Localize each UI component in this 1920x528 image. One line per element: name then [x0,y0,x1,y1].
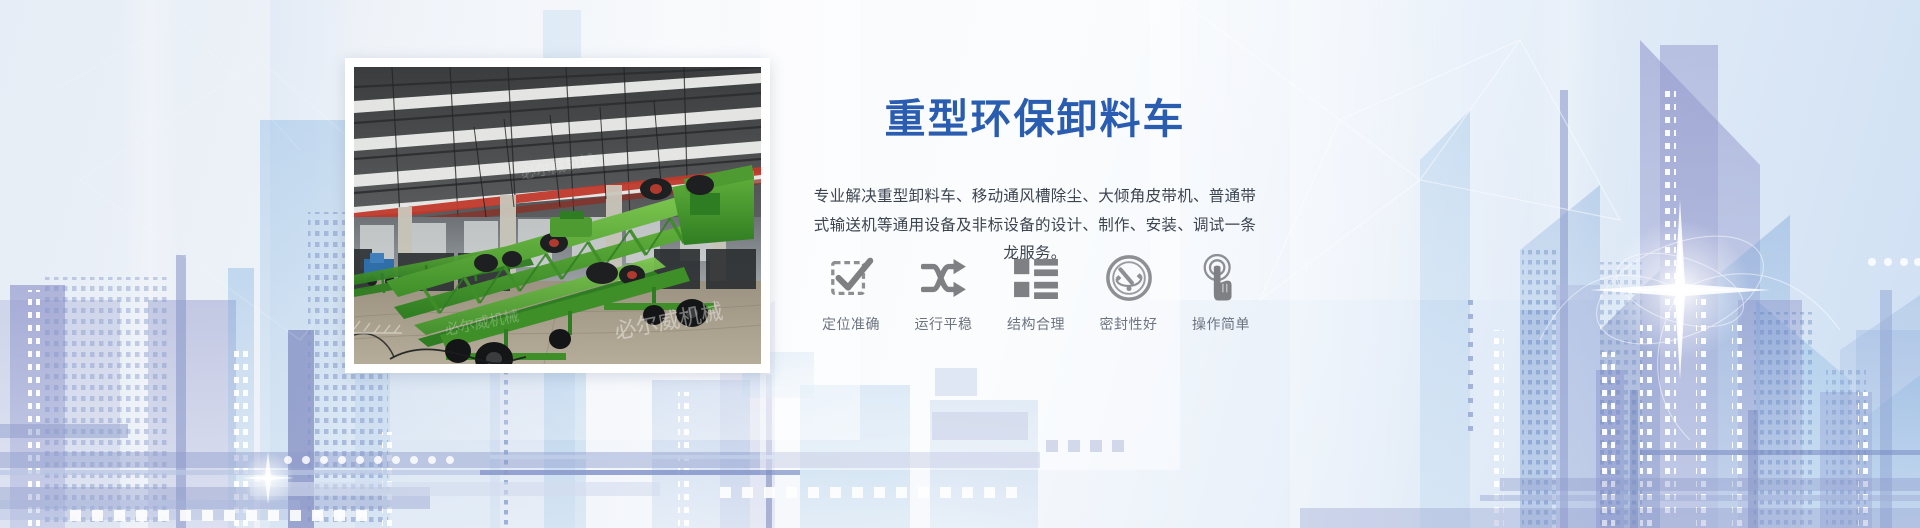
feature-label: 密封性好 [1086,314,1172,334]
feature-item-smooth-operation[interactable]: 运行平稳 [901,252,987,334]
checkbox-check-icon [808,252,894,304]
feature-item-positioning[interactable]: 定位准确 [808,252,894,334]
shuffle-arrows-icon [901,252,987,304]
feature-item-structure[interactable]: 结构合理 [993,252,1079,334]
seal-gauge-icon [1086,252,1172,304]
grid-list-icon [993,252,1079,304]
product-photo-frame: 必尔威机械 必尔威机械 必尔威机械 [345,58,770,373]
feature-label: 定位准确 [808,314,894,334]
feature-label: 运行平稳 [901,314,987,334]
feature-label: 操作简单 [1178,314,1264,334]
hero-banner: 必尔威机械 必尔威机械 必尔威机械 重型环保卸料车 专业解决重型卸料车、移动通风… [0,0,1920,528]
feature-item-easy-operation[interactable]: 操作简单 [1178,252,1264,334]
feature-list: 定位准确 运行平稳 [808,252,1264,334]
touch-hand-icon [1178,252,1264,304]
product-photo: 必尔威机械 必尔威机械 必尔威机械 [354,67,761,364]
page-title: 重型环保卸料车 [810,96,1260,143]
feature-item-sealing[interactable]: 密封性好 [1086,252,1172,334]
banner-content: 重型环保卸料车 专业解决重型卸料车、移动通风槽除尘、大倾角皮带机、普通带式输送机… [810,96,1260,269]
feature-label: 结构合理 [993,314,1079,334]
